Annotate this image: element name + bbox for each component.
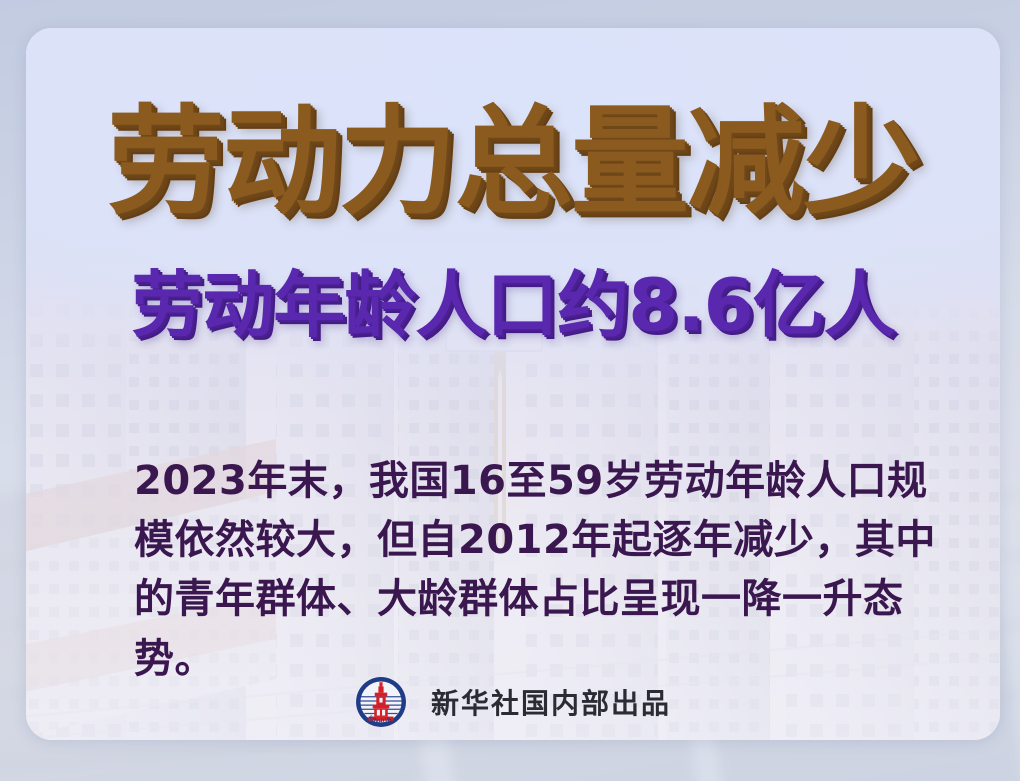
page-title: 劳动力总量减少	[26, 102, 1000, 224]
poster-card: 劳动力总量减少 劳动年龄人口约8.6亿人 2023年末，我国16至59岁劳动年龄…	[26, 28, 1000, 740]
credit-line: XINHUA 新华社国内部出品	[26, 676, 1000, 728]
body-paragraph: 2023年末，我国16至59岁劳动年龄人口规模依然较大，但自2012年起逐年减少…	[134, 452, 944, 689]
xinhua-logo-icon: XINHUA	[355, 676, 407, 728]
poster-root: 劳动力总量减少 劳动年龄人口约8.6亿人 2023年末，我国16至59岁劳动年龄…	[0, 0, 1020, 781]
poster-content: 劳动力总量减少 劳动年龄人口约8.6亿人 2023年末，我国16至59岁劳动年龄…	[26, 28, 1000, 740]
credit-text: 新华社国内部出品	[431, 682, 671, 722]
page-subtitle: 劳动年龄人口约8.6亿人	[26, 268, 1000, 344]
